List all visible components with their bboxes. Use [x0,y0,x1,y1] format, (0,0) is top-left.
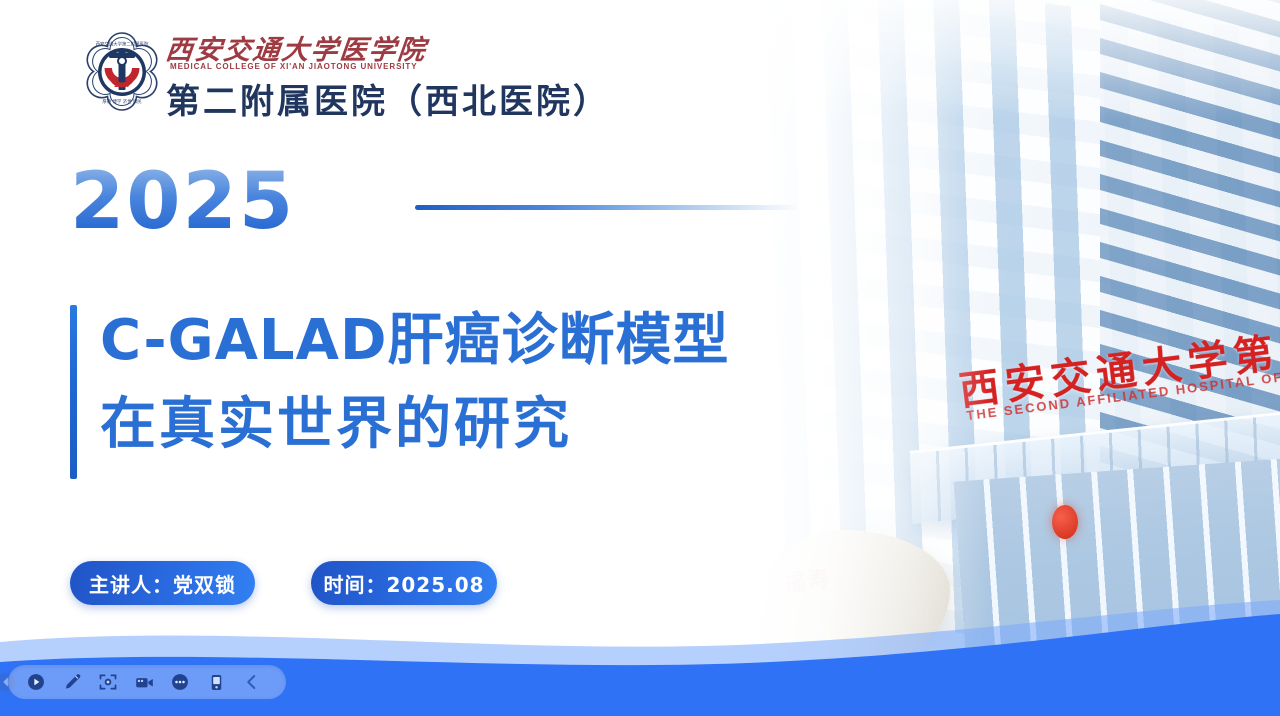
year-label: 2025 [70,163,295,241]
mobile-phone-icon[interactable] [198,667,234,697]
video-camera-icon[interactable] [126,667,162,697]
scan-focus-icon[interactable] [90,667,126,697]
more-dots-icon[interactable] [162,667,198,697]
title-accent-bar [70,305,77,479]
presentation-slide: 西安交通大学第二 THE SECOND AFFILIATED HOSPITAL … [0,0,1280,716]
title-line-2: 在真实世界的研究 [100,369,729,453]
logo-university-english: MEDICAL COLLEGE OF XI'AN JIAOTONG UNIVER… [170,62,417,71]
hospital-emblem-icon: 1937 西安交通大学第二附属医院 厚德 博学 济世 康民 [78,30,166,118]
year-divider-rule [415,205,800,210]
chevron-left-icon[interactable] [234,667,270,697]
title-line-1: C-GALAD肝癌诊断模型 [100,303,729,369]
slide-title: C-GALAD肝癌诊断模型 在真实世界的研究 [70,303,699,453]
svg-text:1937: 1937 [114,82,131,89]
play-circle-icon[interactable] [18,667,54,697]
hospital-logo: 1937 西安交通大学第二附属医院 厚德 博学 济世 康民 西安交通大学医学院 … [78,26,538,122]
logo-hospital-name: 第二附属医院（西北医院） [166,74,610,123]
hospital-building-photo: 西安交通大学第二 THE SECOND AFFILIATED HOSPITAL … [660,0,1280,690]
svg-text:厚德 博学 济世 康民: 厚德 博学 济世 康民 [102,98,142,105]
slide-toolbar[interactable] [8,665,286,699]
red-lantern-icon [1052,505,1078,539]
pencil-icon[interactable] [54,667,90,697]
svg-text:西安交通大学第二附属医院: 西安交通大学第二附属医院 [96,41,149,48]
